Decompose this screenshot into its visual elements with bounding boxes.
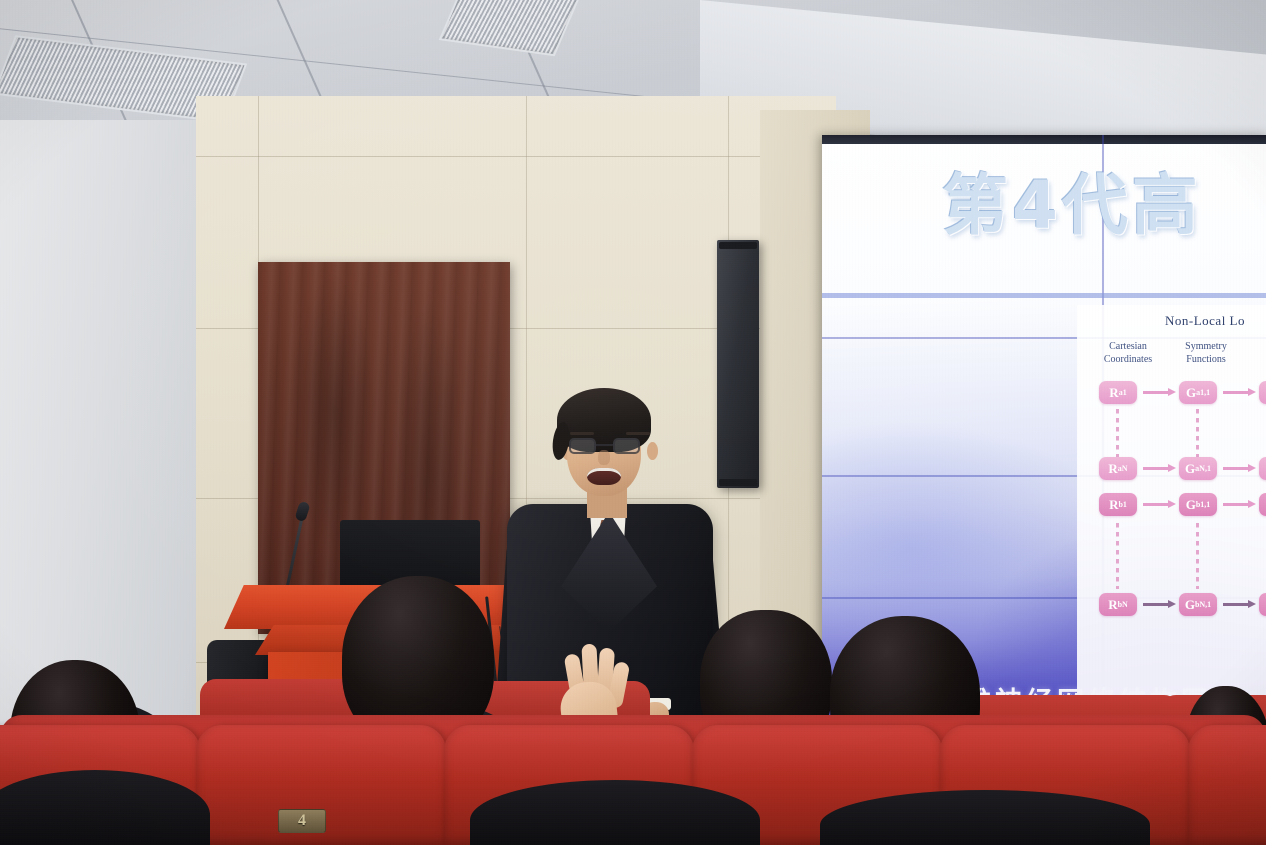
slide-diagram: Non-Local Lo Cartesian Coordinates Symme… <box>1077 305 1266 700</box>
node-label: R <box>1109 497 1118 513</box>
diagram-arrow <box>1143 467 1169 470</box>
diagram-node-next <box>1259 493 1266 516</box>
node-sub: N,1 <box>1199 600 1211 609</box>
diagram-arrow <box>1223 603 1249 606</box>
col1-line2: Coordinates <box>1091 354 1165 367</box>
glasses-lens-right <box>613 438 640 454</box>
node-sub: 1,1 <box>1200 388 1210 397</box>
col2-line2: Functions <box>1169 354 1243 367</box>
col2-line1: Symmetry <box>1169 341 1243 354</box>
node-label: G <box>1186 385 1196 401</box>
diagram-dots <box>1116 523 1119 589</box>
diagram-node-fn: GaN,1 <box>1179 457 1217 480</box>
node-sub: 1 <box>1123 500 1127 509</box>
diagram-node-fn: Gb1,1 <box>1179 493 1217 516</box>
node-sub: N <box>1122 600 1128 609</box>
node-label: G <box>1186 497 1196 513</box>
screen-top-bezel <box>822 135 1266 144</box>
node-label: G <box>1185 461 1195 477</box>
lecture-photo: In 第4代高 Non-Local Lo Cartesian Coordinat… <box>0 0 1266 845</box>
diagram-node-fn: GbN,1 <box>1179 593 1217 616</box>
diagram-arrow <box>1143 503 1169 506</box>
glasses-lens-left <box>569 438 596 454</box>
diagram-dots <box>1116 409 1119 457</box>
diagram-dots <box>1196 409 1199 457</box>
node-label: R <box>1108 597 1117 613</box>
seat-number-plate: 4 <box>278 809 326 833</box>
diagram-node-coord: RbN <box>1099 593 1137 616</box>
node-sub: N,1 <box>1199 464 1211 473</box>
diagram-column-header-coordinates: Cartesian Coordinates <box>1091 341 1165 366</box>
glasses-bridge <box>596 444 613 446</box>
diagram-node-next <box>1259 457 1266 480</box>
diagram-node-next <box>1259 593 1266 616</box>
ceiling-vent-right <box>439 0 582 56</box>
presenter-eyebrow-right <box>626 432 650 435</box>
diagram-node-fn: Ga1,1 <box>1179 381 1217 404</box>
node-label: G <box>1185 597 1195 613</box>
col1-line1: Cartesian <box>1091 341 1165 354</box>
presenter-nose <box>598 450 610 465</box>
presenter-mouth-speaking <box>587 468 621 485</box>
presenter-ear-right <box>647 442 658 460</box>
diagram-node-coord: Ra1 <box>1099 381 1137 404</box>
diagram-arrow <box>1143 603 1169 606</box>
seat[interactable] <box>1188 725 1266 845</box>
diagram-arrow <box>1223 467 1249 470</box>
diagram-dots <box>1196 523 1199 589</box>
column-loudspeaker <box>717 240 759 488</box>
diagram-node-coord: RaN <box>1099 457 1137 480</box>
node-sub: 1 <box>1123 388 1127 397</box>
diagram-node-next <box>1259 381 1266 404</box>
diagram-column-header-functions: Symmetry Functions <box>1169 341 1243 366</box>
node-sub: 1,1 <box>1200 500 1210 509</box>
node-sub: N <box>1122 464 1128 473</box>
slide-title: 第4代高 <box>942 173 1202 239</box>
presenter-eyebrow-left <box>570 432 594 435</box>
diagram-arrow <box>1223 503 1249 506</box>
diagram-node-coord: Rb1 <box>1099 493 1137 516</box>
slide-title-rule <box>822 293 1266 298</box>
diagram-arrow <box>1143 391 1169 394</box>
node-label: R <box>1109 385 1118 401</box>
diagram-arrow <box>1223 391 1249 394</box>
diagram-title: Non-Local Lo <box>1165 313 1245 329</box>
node-label: R <box>1108 461 1117 477</box>
